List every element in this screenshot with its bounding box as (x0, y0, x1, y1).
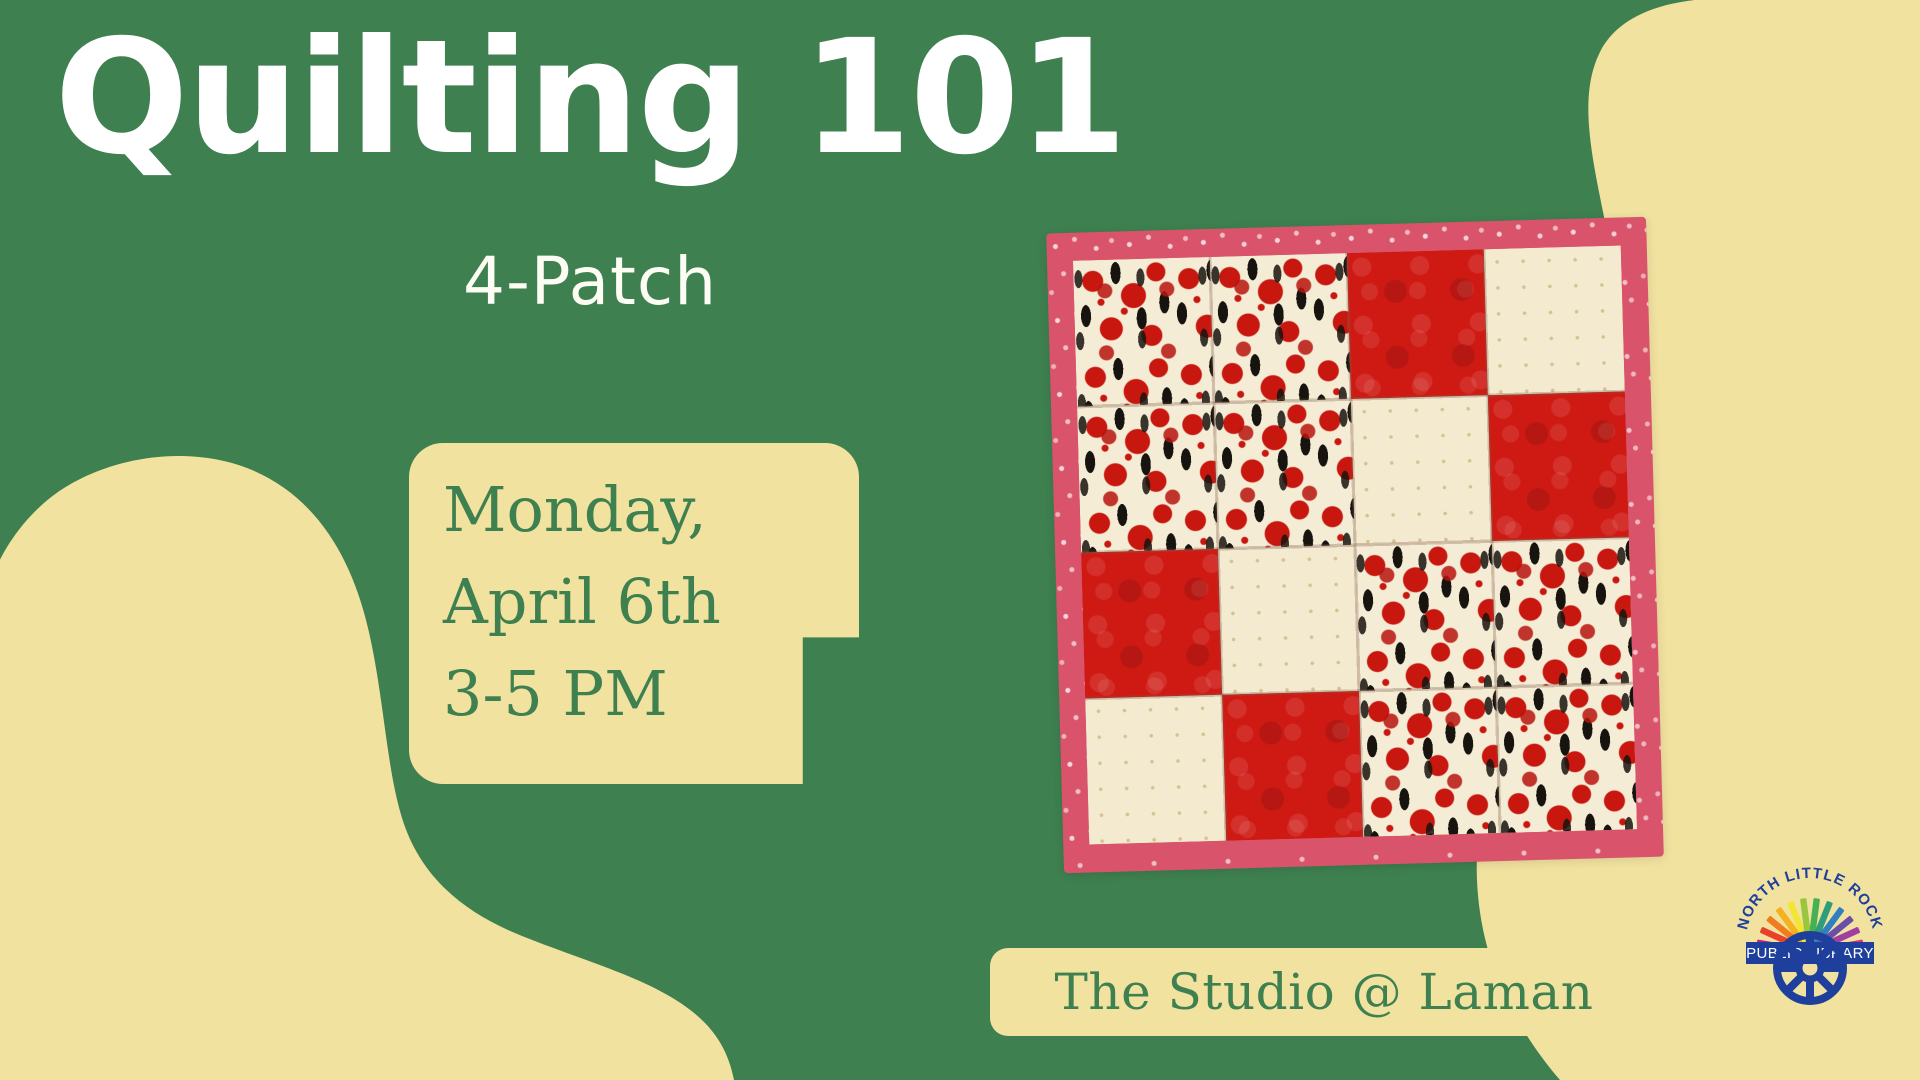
quilt-patch (1214, 399, 1355, 549)
wagon-wheel-icon (1777, 935, 1843, 1001)
page-subtitle: 4-Patch (0, 243, 1180, 320)
north-little-rock-public-library-logo: NORTH LITTLE ROCK PUBLIC LIBRARY (1732, 856, 1888, 1006)
quilt-patch (1210, 253, 1351, 403)
event-date: April 6th (443, 559, 859, 651)
poster-canvas: Quilting 101 4-Patch Monday, April 6th 3… (0, 0, 1920, 1080)
quilt-photo (1046, 217, 1664, 874)
quilt-patch (1351, 395, 1492, 545)
quilt-patch (1492, 537, 1633, 687)
quilt-patch (1081, 549, 1222, 699)
event-time: 3-5 PM (443, 651, 859, 743)
quilt-patch (1077, 403, 1218, 553)
quilt-patch (1218, 545, 1359, 695)
quilt-patch (1222, 691, 1363, 841)
quilt-patch (1488, 391, 1629, 541)
page-title: Quilting 101 (0, 18, 1180, 179)
quilt-patch (1484, 245, 1625, 395)
quilt-patch (1359, 687, 1500, 837)
event-day: Monday, (443, 467, 859, 559)
quilt-patch (1355, 541, 1496, 691)
quilt-patch (1496, 683, 1637, 833)
logo-arc-text: NORTH LITTLE ROCK (1734, 865, 1885, 932)
event-date-card: Monday, April 6th 3-5 PM (409, 443, 859, 784)
location-banner: The Studio @ Laman (990, 948, 1658, 1036)
quilt-patch (1085, 695, 1226, 845)
quilt-patch (1347, 249, 1488, 399)
quilt-patch-grid (1073, 245, 1637, 844)
location-label: The Studio @ Laman (990, 948, 1658, 1036)
quilt-patch (1073, 257, 1214, 407)
